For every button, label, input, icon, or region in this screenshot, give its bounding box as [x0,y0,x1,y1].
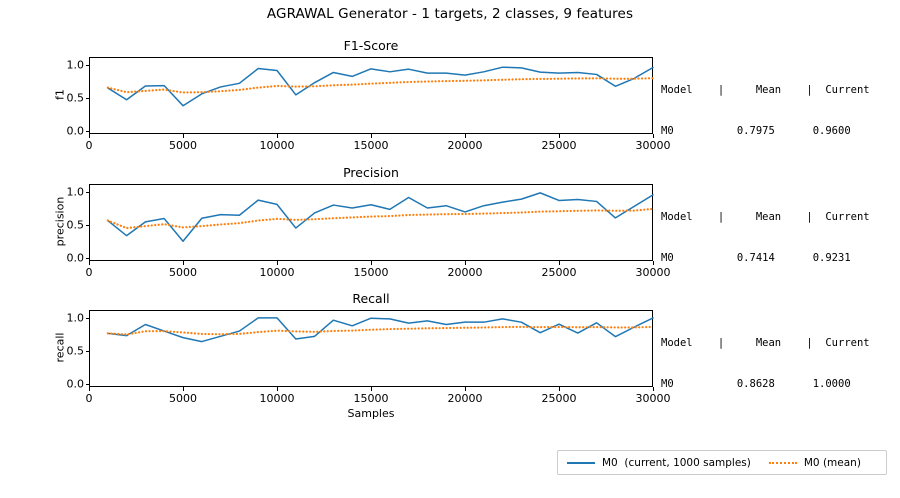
x-tick-label: 10000 [260,266,295,279]
stats-row-recall: M0 0.8628 1.0000 [661,378,870,392]
x-tick-mark [653,134,654,138]
x-tick-mark [183,261,184,265]
stats-row-precision: M0 0.7414 0.9231 [661,252,870,266]
y-tick-mark [86,192,90,193]
legend-entry-current[interactable]: M0 (current, 1000 samples) [567,457,751,469]
x-tick-label: 20000 [448,392,483,405]
stats-table-f1: Model | Mean | Current M0 0.7975 0.9600 [661,57,870,165]
y-tick-mark [86,131,90,132]
legend-entry-mean[interactable]: M0 (mean) [769,457,861,469]
x-tick-mark [559,134,560,138]
x-tick-label: 0 [86,266,93,279]
plot-area-precision [89,184,653,261]
x-tick-label: 5000 [169,266,197,279]
stats-table-precision: Model | Mean | Current M0 0.7414 0.9231 [661,184,870,292]
y-tick-mark [86,351,90,352]
y-tick-mark [86,258,90,259]
y-tick-mark [86,225,90,226]
line-current [108,67,653,106]
y-tick-mark [86,384,90,385]
subplot-precision: Precision precision 0.00.51.005000100001… [89,184,653,261]
y-axis-label-f1: f1 [54,74,67,114]
x-tick-mark [559,387,560,391]
x-tick-label: 25000 [542,266,577,279]
x-tick-mark [89,387,90,391]
subplot-f1-score: F1-Score f1 0.00.51.00500010000150002000… [89,57,653,134]
x-tick-mark [89,134,90,138]
figure-title: AGRAWAL Generator - 1 targets, 2 classes… [0,6,900,22]
x-tick-mark [371,261,372,265]
legend-label-current: M0 (current, 1000 samples) [602,457,751,469]
y-axis-label-precision: precision [54,181,67,261]
x-tick-mark [653,261,654,265]
x-tick-label: 10000 [260,139,295,152]
y-tick-label: 1.0 [67,311,85,324]
subplot-recall: Recall recall 0.00.51.005000100001500020… [89,310,653,387]
x-tick-label: 25000 [542,139,577,152]
subplot-title-precision: Precision [89,165,653,180]
line-current [108,193,653,241]
x-tick-mark [653,387,654,391]
stats-header-f1: Model | Mean | Current [661,84,870,98]
plot-area-f1 [89,57,653,134]
y-tick-label: 0.5 [67,91,85,104]
y-tick-label: 0.0 [67,124,85,137]
line-mean [108,78,653,92]
x-tick-mark [371,387,372,391]
y-tick-label: 0.0 [67,251,85,264]
x-tick-mark [465,387,466,391]
stats-header-recall: Model | Mean | Current [661,337,870,351]
x-tick-label: 20000 [448,266,483,279]
x-tick-label: 15000 [354,139,389,152]
y-tick-label: 1.0 [67,58,85,71]
y-tick-label: 0.5 [67,344,85,357]
y-tick-label: 0.5 [67,218,85,231]
stats-table-recall: Model | Mean | Current M0 0.8628 1.0000 [661,310,870,418]
x-tick-mark [465,261,466,265]
y-tick-mark [86,98,90,99]
x-tick-label: 15000 [354,266,389,279]
y-tick-mark [86,318,90,319]
x-tick-label: 10000 [260,392,295,405]
x-axis-label: Samples [89,407,653,420]
figure-legend: M0 (current, 1000 samples) M0 (mean) [557,450,887,475]
x-tick-mark [371,134,372,138]
x-tick-label: 5000 [169,139,197,152]
x-tick-label: 25000 [542,392,577,405]
subplot-title-f1: F1-Score [89,38,653,53]
stats-row-f1: M0 0.7975 0.9600 [661,125,870,139]
x-tick-label: 0 [86,139,93,152]
x-tick-mark [559,261,560,265]
x-tick-mark [183,134,184,138]
x-tick-mark [277,387,278,391]
line-mean [108,209,653,228]
legend-line-dotted-icon [769,462,797,464]
x-tick-mark [89,261,90,265]
subplot-title-recall: Recall [89,291,653,306]
x-tick-mark [183,387,184,391]
y-tick-label: 1.0 [67,185,85,198]
x-tick-mark [465,134,466,138]
x-tick-label: 15000 [354,392,389,405]
y-tick-mark [86,65,90,66]
x-tick-label: 5000 [169,392,197,405]
y-axis-label-recall: recall [54,319,67,375]
plot-area-recall [89,310,653,387]
y-tick-label: 0.0 [67,377,85,390]
legend-label-mean: M0 (mean) [804,457,861,469]
matplotlib-figure: AGRAWAL Generator - 1 targets, 2 classes… [0,0,900,498]
legend-line-solid-icon [567,462,595,464]
x-tick-mark [277,134,278,138]
x-tick-label: 20000 [448,139,483,152]
stats-header-precision: Model | Mean | Current [661,211,870,225]
x-tick-mark [277,261,278,265]
x-tick-label: 0 [86,392,93,405]
